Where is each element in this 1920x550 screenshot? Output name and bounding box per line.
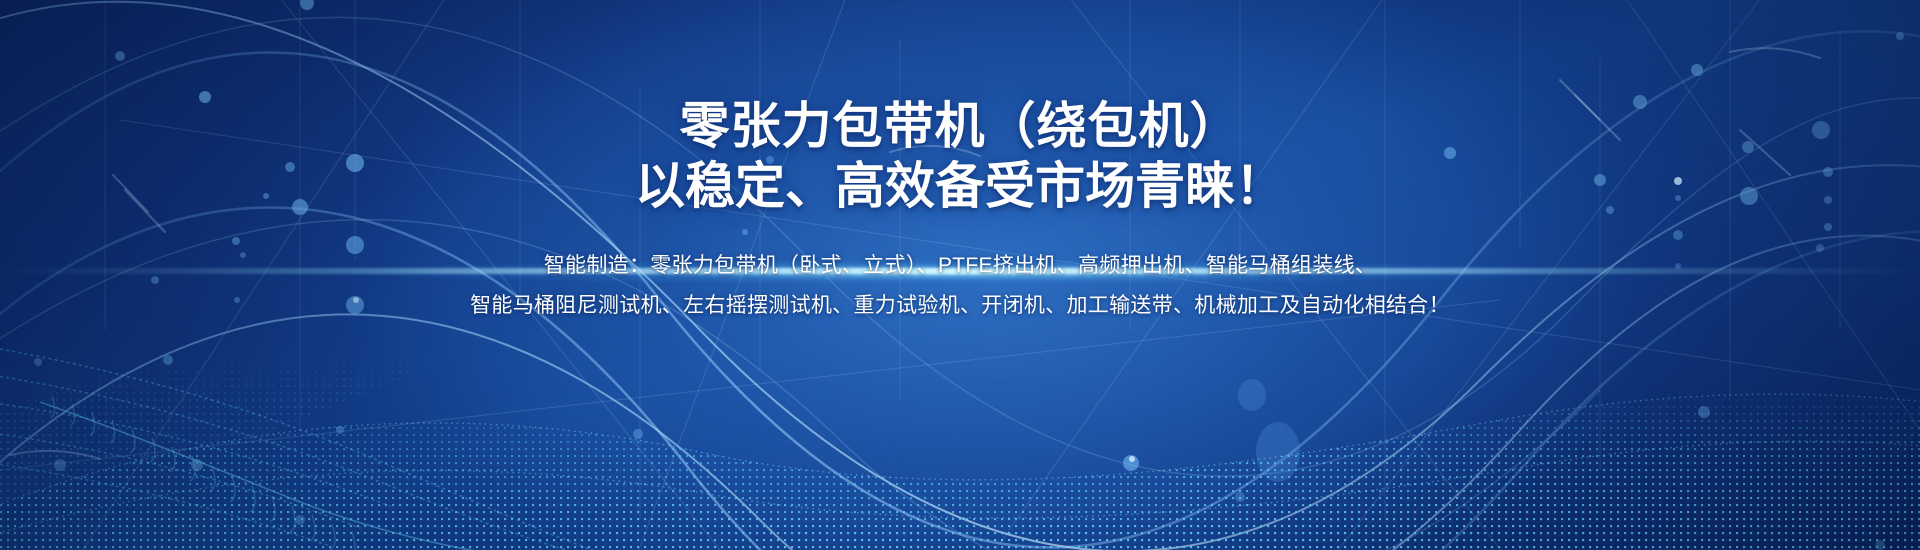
hero-banner: 零张力包带机（绕包机） 以稳定、高效备受市场青睐！ 智能制造：零张力包带机（卧式…: [0, 0, 1920, 550]
headline-line-1: 零张力包带机（绕包机）: [635, 96, 1285, 156]
subtitle-block: 智能制造：零张力包带机（卧式、立式）、PTFE挤出机、高频押出机、智能马桶组装线…: [470, 246, 1450, 326]
headline-block: 零张力包带机（绕包机） 以稳定、高效备受市场青睐！: [635, 96, 1285, 216]
subtitle-line-1: 智能制造：零张力包带机（卧式、立式）、PTFE挤出机、高频押出机、智能马桶组装线…: [470, 246, 1450, 286]
subtitle-line-2: 智能马桶阻尼测试机、左右摇摆测试机、重力试验机、开闭机、加工输送带、机械加工及自…: [470, 286, 1450, 326]
banner-content: 零张力包带机（绕包机） 以稳定、高效备受市场青睐！ 智能制造：零张力包带机（卧式…: [0, 0, 1920, 550]
headline-line-2: 以稳定、高效备受市场青睐！: [635, 156, 1285, 216]
